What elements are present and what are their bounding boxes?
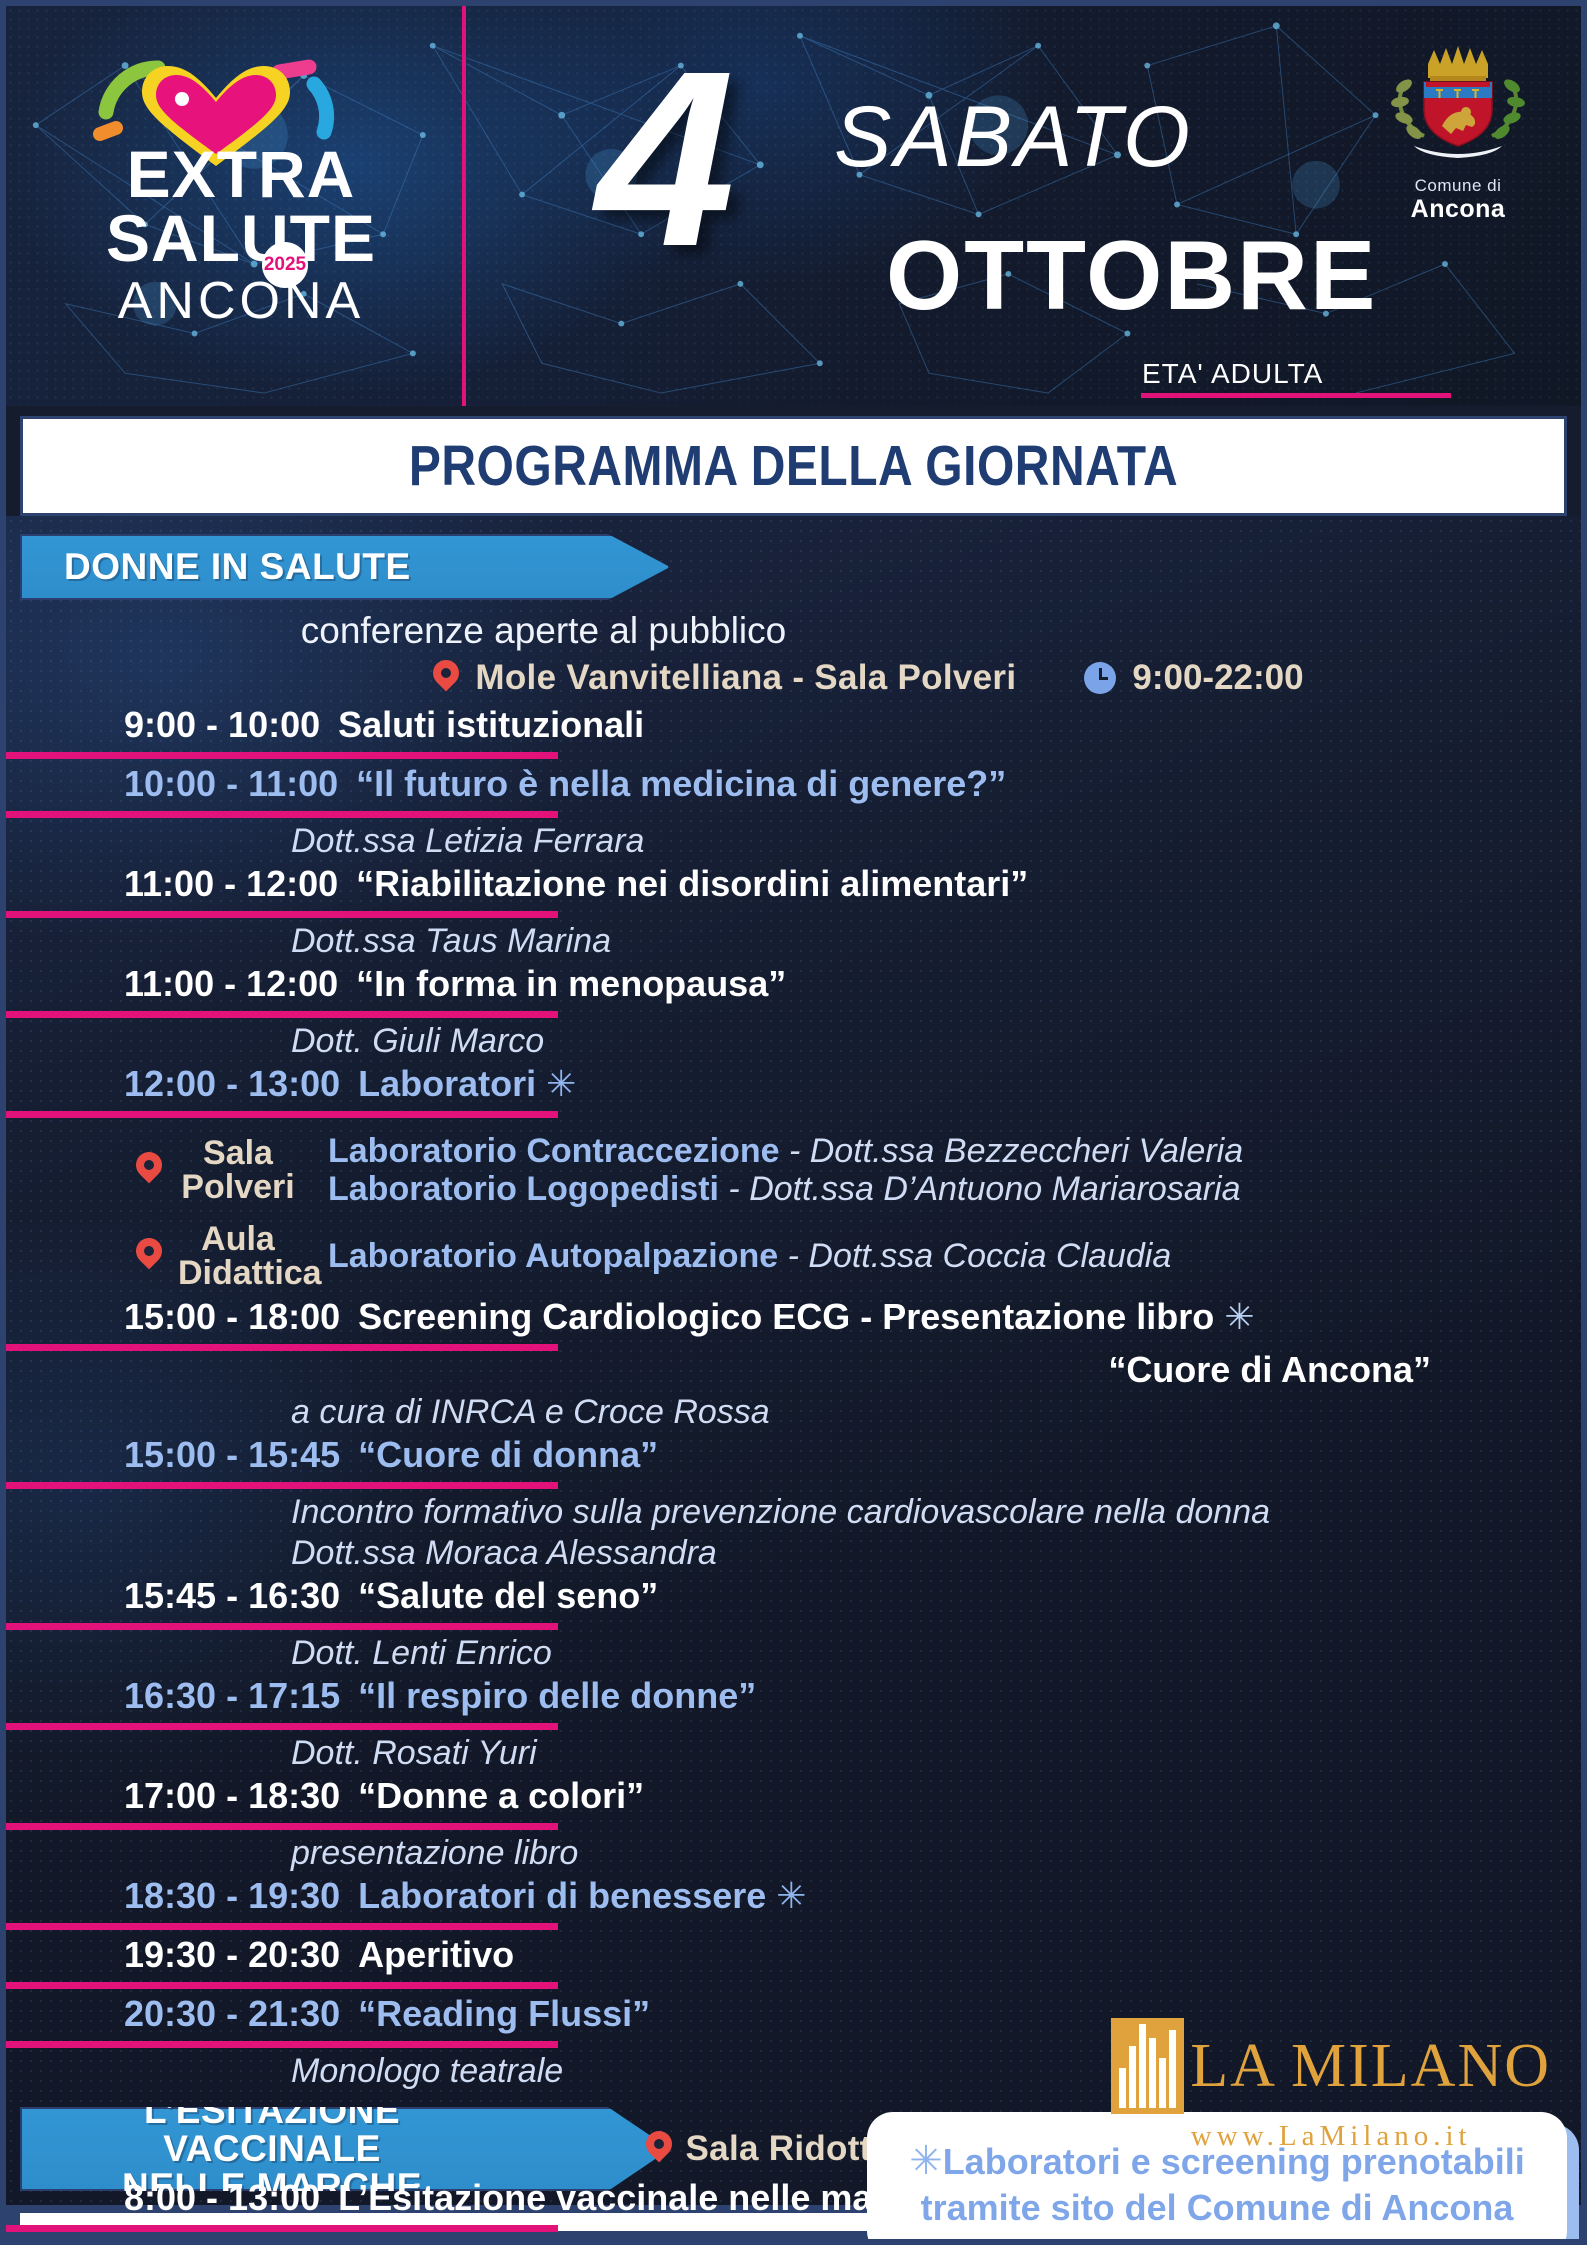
logo-year-badge: 2025 xyxy=(262,242,308,288)
row-speaker: Dott.ssa Taus Marina xyxy=(6,922,1581,961)
age-group-text: ETA' ADULTA xyxy=(1142,358,1451,390)
row-rule xyxy=(0,911,558,918)
logo-line-ancona: ANCONA xyxy=(66,272,416,330)
logo-line-extra: EXTRA xyxy=(66,144,416,204)
row-rule xyxy=(0,1482,558,1489)
page-title-bar: PROGRAMMA DELLA GIORNATA xyxy=(20,416,1567,516)
row-desc: “Il respiro delle donne” xyxy=(358,1675,756,1717)
row-time: 19:30 - 20:30 xyxy=(124,1934,340,1976)
row-time: 15:00 - 15:45 xyxy=(124,1434,340,1476)
row-speaker: Monologo teatrale xyxy=(6,2052,1581,2091)
row-speaker: Dott.ssa Letizia Ferrara xyxy=(6,822,1581,861)
row-extra-right: “Cuore di Ancona” xyxy=(6,1349,1581,1391)
lab-block: Sala Polveri Laboratorio Contraccezione … xyxy=(6,1132,1581,1208)
row-desc: “In forma in menopausa” xyxy=(356,963,786,1005)
comune-ancona-crest: Comune di Ancona xyxy=(1378,42,1538,223)
row-time: 15:00 - 18:00 xyxy=(124,1296,340,1338)
row-desc: Laboratori di benessere xyxy=(358,1875,766,1917)
lab-item: Laboratorio Contraccezione - Dott.ssa Be… xyxy=(328,1132,1243,1170)
row-time: 15:45 - 16:30 xyxy=(124,1575,340,1617)
row-time: 11:00 - 12:00 xyxy=(124,963,338,1005)
row-time: 20:30 - 21:30 xyxy=(124,1993,340,2035)
coat-of-arms-icon xyxy=(1378,42,1538,167)
callout-line1: Laboratori e screening prenotabili xyxy=(943,2141,1525,2182)
schedule-row: 11:00 - 12:00“Riabilitazione nei disordi… xyxy=(6,863,1581,918)
schedule-row: 20:30 - 21:30“Reading Flussi” xyxy=(6,1993,1581,2048)
row-rule xyxy=(0,1011,558,1018)
row-time: 8:00 - 13:00 xyxy=(124,2177,320,2219)
row-time: 12:00 - 13:00 xyxy=(124,1063,340,1105)
lab-block: Aula Didattica Laboratorio Autopalpazion… xyxy=(6,1222,1581,1290)
row-rule xyxy=(0,1623,558,1630)
lab-room-line2: Polveri xyxy=(181,1168,294,1206)
lab-list: Laboratorio Autopalpazione - Dott.ssa Co… xyxy=(328,1237,1171,1275)
lab-room: Aula Didattica xyxy=(178,1222,298,1290)
lab-item: Laboratorio Logopedisti - Dott.ssa D’Ant… xyxy=(328,1170,1243,1208)
row-time: 18:30 - 19:30 xyxy=(124,1875,340,1917)
row-desc: “Il futuro è nella medicina di genere?” xyxy=(356,763,1006,805)
row-rule xyxy=(0,2225,558,2232)
row-speaker: presentazione libro xyxy=(6,1834,1581,1873)
lab-item-person: - Dott.ssa D’Antuono Mariarosaria xyxy=(719,1170,1241,1208)
row-rule xyxy=(0,1982,558,1989)
row-rule xyxy=(0,1923,558,1930)
schedule-row: 10:00 - 11:00“Il futuro è nella medicina… xyxy=(6,763,1581,818)
lab-item-name: Laboratorio Logopedisti xyxy=(328,1170,719,1208)
asterisk-icon: ✳ xyxy=(909,2139,943,2183)
lab-room-line1: Aula xyxy=(201,1220,275,1258)
row-rule xyxy=(0,752,558,759)
booking-callout: ✳Laboratori e screening prenotabili tram… xyxy=(867,2112,1567,2245)
schedule-row: 19:30 - 20:30Aperitivo xyxy=(6,1934,1581,1989)
section-venue-row: Mole Vanvitelliana - Sala Polveri 9:00-2… xyxy=(6,658,1581,698)
section-banner-label: DONNE IN SALUTE xyxy=(64,548,411,586)
row-speaker: Incontro formativo sulla prevenzione car… xyxy=(6,1493,1581,1532)
lab-item-person: - Dott.ssa Bezzeccheri Valeria xyxy=(780,1132,1244,1170)
location-pin-icon xyxy=(646,2131,672,2167)
row-speaker: Dott. Rosati Yuri xyxy=(6,1734,1581,1773)
poster-header: EXTRA SALUTE ANCONA 2025 4 SABATO OTTOBR… xyxy=(6,6,1581,406)
callout-text: ✳Laboratori e screening prenotabili tram… xyxy=(889,2138,1545,2231)
row-desc: “Salute del seno” xyxy=(358,1575,658,1617)
lab-item: Laboratorio Autopalpazione - Dott.ssa Co… xyxy=(328,1237,1171,1275)
row-rule xyxy=(0,1823,558,1830)
callout-line2: tramite sito del Comune di Ancona xyxy=(921,2187,1514,2228)
row-desc: Screening Cardiologico ECG - Presentazio… xyxy=(358,1296,1214,1338)
row-time: 17:00 - 18:30 xyxy=(124,1775,340,1817)
day-name: SABATO xyxy=(834,88,1193,187)
row-desc: Aperitivo xyxy=(358,1934,514,1976)
row-time: 10:00 - 11:00 xyxy=(124,763,338,805)
lab-room-line2: Didattica xyxy=(178,1254,322,1292)
lab-room: Sala Polveri xyxy=(178,1136,298,1204)
crest-line1: Comune di xyxy=(1378,176,1538,196)
lab-item-person: - Dott.ssa Coccia Claudia xyxy=(778,1237,1171,1275)
row-desc: Laboratori xyxy=(358,1063,536,1105)
clock-icon xyxy=(1084,662,1116,694)
schedule-row: 12:00 - 13:00Laboratori✳ xyxy=(6,1063,1581,1118)
lab-list: Laboratorio Contraccezione - Dott.ssa Be… xyxy=(328,1132,1243,1208)
asterisk-icon: ✳ xyxy=(546,1063,576,1105)
section-hours: 9:00-22:00 xyxy=(1132,658,1303,698)
row-rule xyxy=(0,1723,558,1730)
lab-item-name: Laboratorio Autopalpazione xyxy=(328,1237,778,1275)
day-number: 4 xyxy=(596,34,729,284)
program-body: DONNE IN SALUTE conferenze aperte al pub… xyxy=(6,516,1581,2245)
lab-item-name: Laboratorio Contraccezione xyxy=(328,1132,780,1170)
row-time: 9:00 - 10:00 xyxy=(124,704,320,746)
row-speaker: a cura di INRCA e Croce Rossa xyxy=(6,1393,1581,1432)
age-group-rule xyxy=(1141,393,1451,398)
schedule-row: 15:00 - 15:45“Cuore di donna” xyxy=(6,1434,1581,1489)
event-poster: EXTRA SALUTE ANCONA 2025 4 SABATO OTTOBR… xyxy=(0,0,1587,2245)
asterisk-icon: ✳ xyxy=(1224,1296,1254,1338)
schedule-row: 16:30 - 17:15“Il respiro delle donne” xyxy=(6,1675,1581,1730)
location-pin-icon xyxy=(136,1238,162,1274)
row-desc: “Reading Flussi” xyxy=(358,1993,650,2035)
row-speaker: Dott. Lenti Enrico xyxy=(6,1634,1581,1673)
row-rule xyxy=(0,2041,558,2048)
extra-salute-logo: EXTRA SALUTE ANCONA 2025 xyxy=(66,54,416,344)
age-group-label: ETA' ADULTA xyxy=(1142,358,1451,398)
logo-line-salute: SALUTE xyxy=(66,204,416,272)
row-speaker: Dott. Giuli Marco xyxy=(6,1022,1581,1061)
page-title: PROGRAMMA DELLA GIORNATA xyxy=(409,434,1178,499)
section-banner-donne-in-salute: DONNE IN SALUTE xyxy=(20,534,670,600)
row-desc: “Riabilitazione nei disordini alimentari… xyxy=(356,863,1028,905)
lab-room-line1: Sala xyxy=(203,1134,273,1172)
section-venue: Mole Vanvitelliana - Sala Polveri xyxy=(475,658,1016,698)
schedule-row: 15:45 - 16:30“Salute del seno” xyxy=(6,1575,1581,1630)
schedule-row: 17:00 - 18:30“Donne a colori” xyxy=(6,1775,1581,1830)
header-vertical-divider xyxy=(462,6,466,406)
schedule-row: 15:00 - 18:00Screening Cardiologico ECG … xyxy=(6,1296,1581,1351)
row-speaker-secondary: Dott.ssa Moraca Alessandra xyxy=(6,1534,1581,1573)
row-rule xyxy=(0,1111,558,1118)
section-subtitle: conferenze aperte al pubblico xyxy=(6,610,1581,652)
schedule-row: 18:30 - 19:30Laboratori di benessere✳ xyxy=(6,1875,1581,1930)
location-pin-icon xyxy=(136,1152,162,1188)
schedule-row: 9:00 - 10:00Saluti istituzionali xyxy=(6,704,1581,759)
logo-wordmark: EXTRA SALUTE ANCONA xyxy=(66,144,416,330)
location-pin-icon xyxy=(433,660,459,696)
row-desc: “Donne a colori” xyxy=(358,1775,644,1817)
row-time: 16:30 - 17:15 xyxy=(124,1675,340,1717)
row-rule xyxy=(0,811,558,818)
row-rule xyxy=(0,1344,558,1351)
row-time: 11:00 - 12:00 xyxy=(124,863,338,905)
schedule-row: 11:00 - 12:00“In forma in menopausa” xyxy=(6,963,1581,1018)
asterisk-icon: ✳ xyxy=(776,1875,806,1917)
row-desc: “Cuore di donna” xyxy=(358,1434,658,1476)
month-name: OTTOBRE xyxy=(886,219,1377,332)
row-desc: Saluti istituzionali xyxy=(338,704,644,746)
crest-line2: Ancona xyxy=(1378,196,1538,223)
